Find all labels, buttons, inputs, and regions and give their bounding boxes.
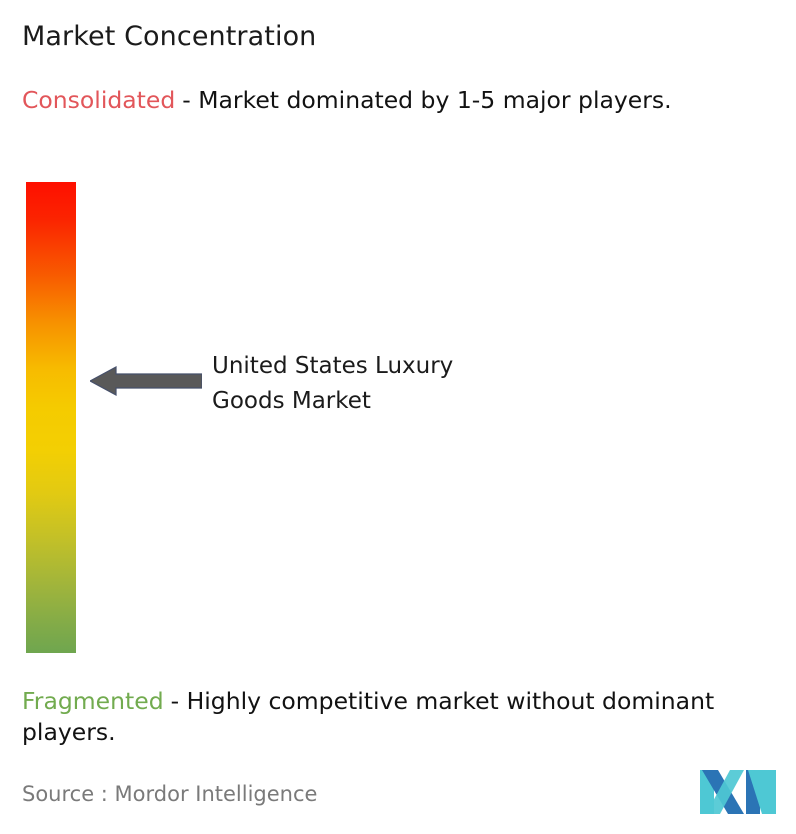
mordor-intelligence-logo — [698, 768, 778, 816]
legend-term-consolidated: Consolidated — [22, 86, 175, 114]
legend-description-consolidated: - Market dominated by 1-5 major players. — [182, 86, 671, 114]
legend-consolidated: Consolidated- Market dominated by 1-5 ma… — [22, 85, 774, 116]
legend-term-fragmented: Fragmented — [22, 687, 164, 715]
callout-line-2: Goods Market — [212, 384, 552, 419]
legend-fragmented: Fragmented- Highly competitive market wi… — [22, 686, 782, 748]
source-attribution: Source : Mordor Intelligence — [22, 780, 317, 808]
callout-market-label: United States Luxury Goods Market — [212, 349, 552, 419]
callout-line-1: United States Luxury — [212, 353, 453, 379]
concentration-gradient-scale — [26, 182, 76, 653]
market-concentration-infographic: Market Concentration Consolidated- Marke… — [0, 0, 796, 834]
page-title: Market Concentration — [22, 20, 316, 54]
arrow-left-icon — [90, 364, 202, 398]
